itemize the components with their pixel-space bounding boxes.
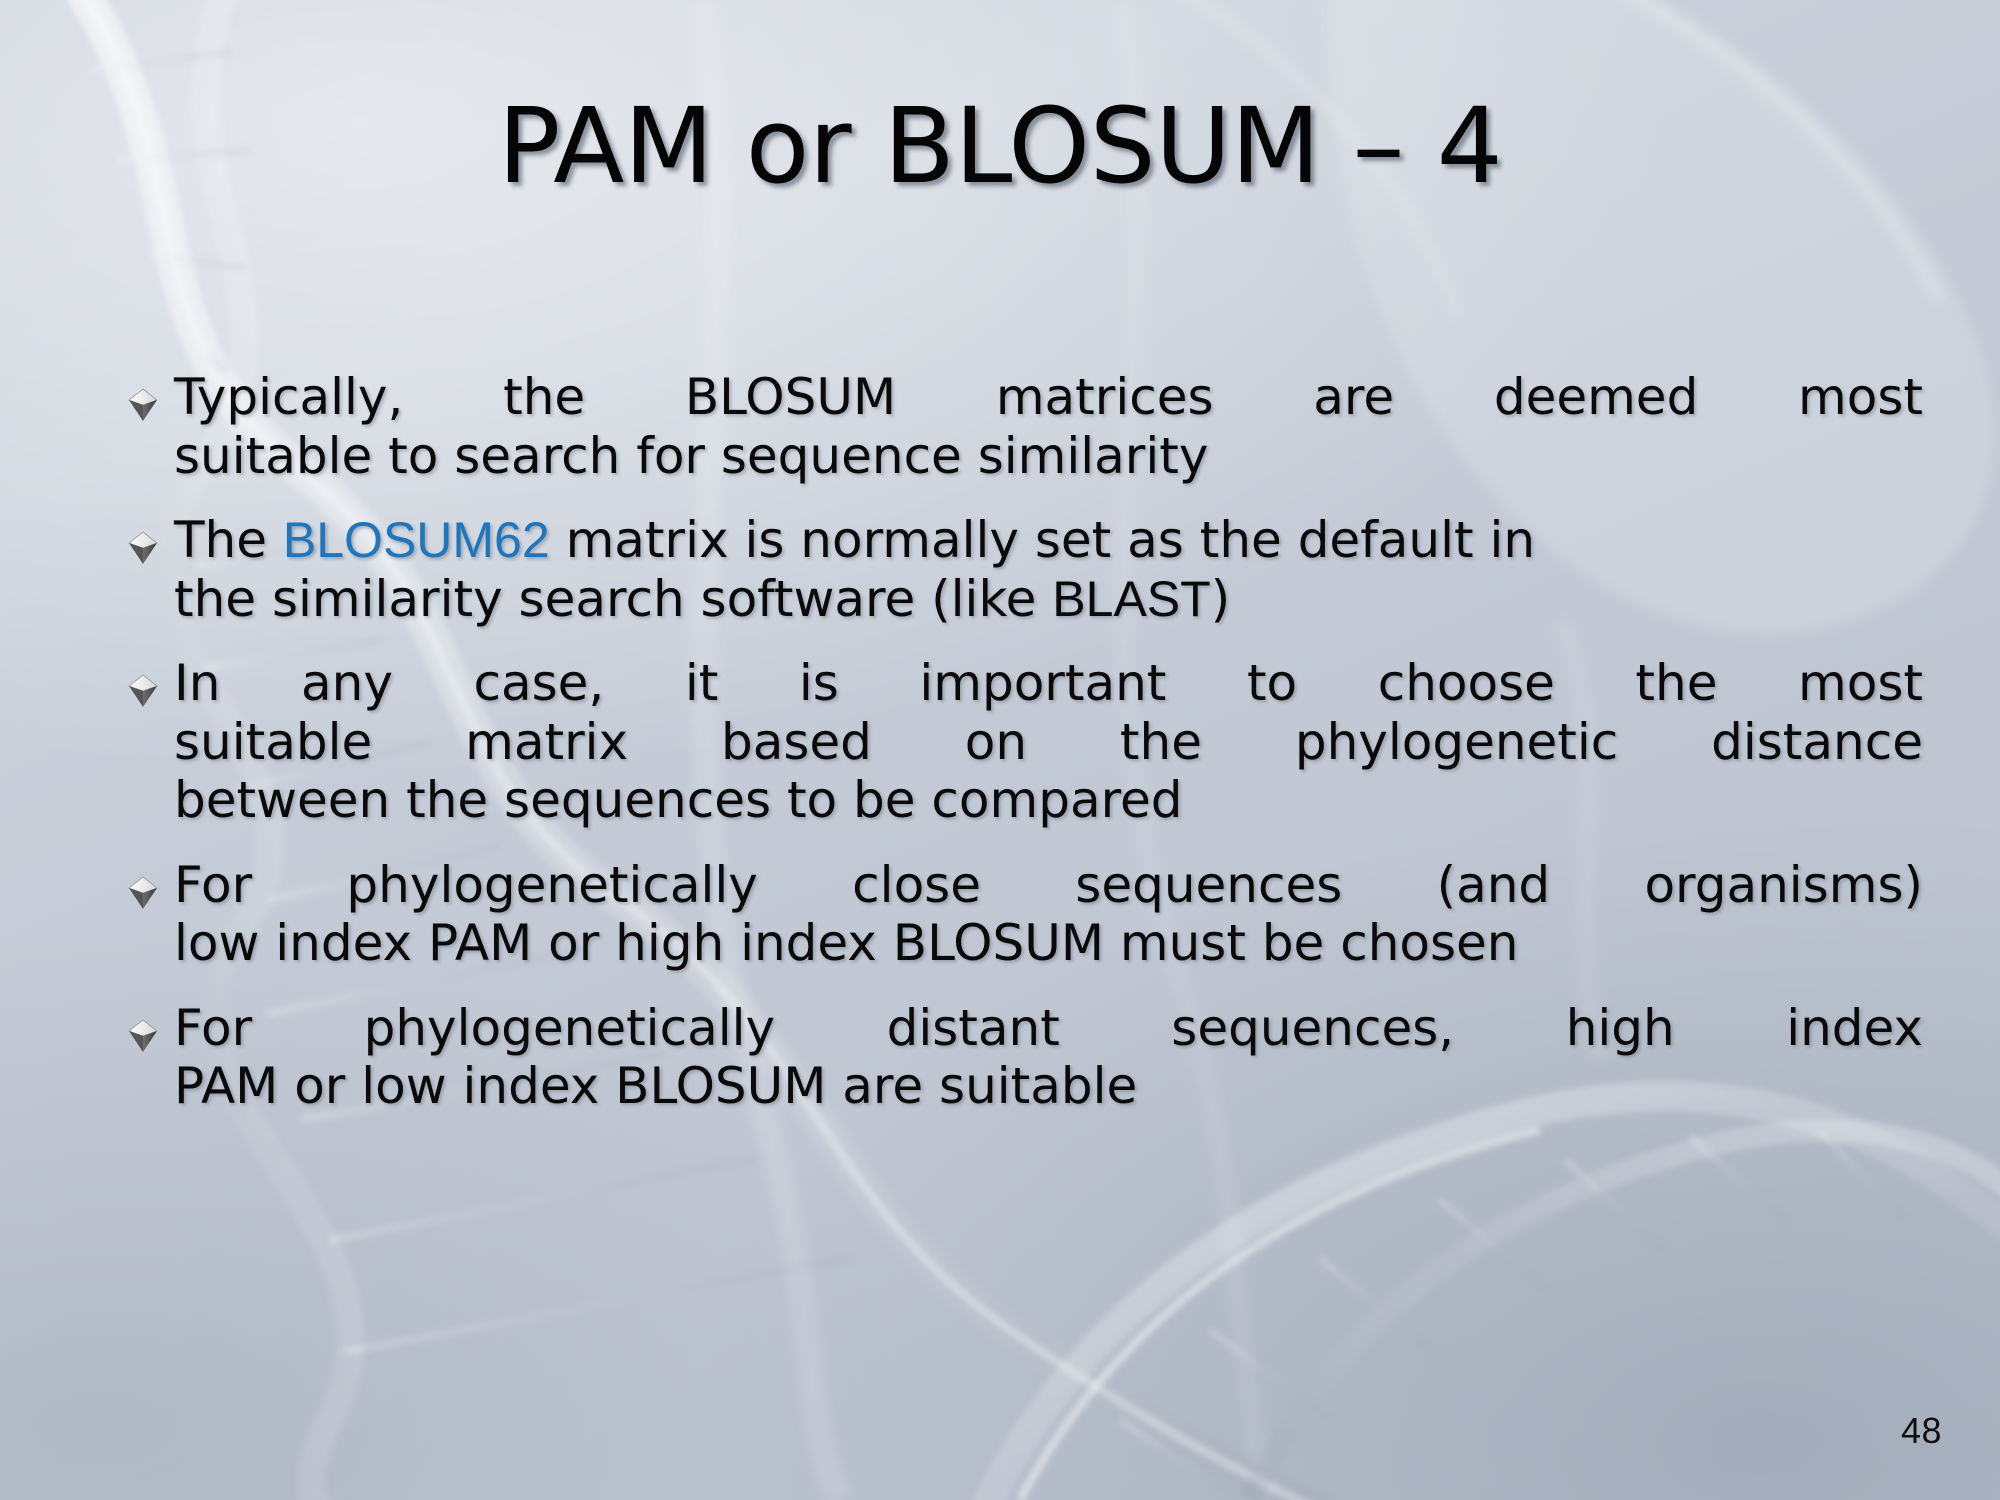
page-number: 48: [1901, 1410, 1942, 1452]
list-item-text: For phylogenetically distant sequences, …: [174, 999, 1923, 1116]
list-item-text: The BLOSUM62 matrix is normally set as t…: [174, 511, 1923, 628]
text-line: For phylogenetically distant sequences, …: [174, 999, 1923, 1058]
text-line: low index PAM or high index BLOSUM must …: [174, 914, 1923, 973]
list-item: Typically, the BLOSUM matrices are deeme…: [128, 368, 1923, 485]
diamond-arrow-bullet-icon: [128, 856, 174, 910]
presentation-slide: PAM or BLOSUM – 4: [0, 0, 2000, 1500]
page-title: PAM or BLOSUM – 4: [498, 92, 1503, 201]
list-item-text: In any case, it is important to choose t…: [174, 654, 1923, 830]
text-line: suitable matrix based on the phylogeneti…: [174, 713, 1923, 772]
text-line: For phylogenetically close sequences (an…: [174, 856, 1923, 915]
text-line: Typically, the BLOSUM matrices are deeme…: [174, 368, 1923, 427]
keyword-blast: BLAST: [1052, 571, 1210, 627]
list-item: The BLOSUM62 matrix is normally set as t…: [128, 511, 1923, 628]
text-line: PAM or low index BLOSUM are suitable: [174, 1057, 1923, 1116]
diamond-arrow-bullet-icon: [128, 999, 174, 1053]
text-fragment: matrix is normally set as the default in: [550, 511, 1535, 569]
list-item: For phylogenetically distant sequences, …: [128, 999, 1923, 1116]
text-line: between the sequences to be compared: [174, 771, 1923, 830]
text-fragment: the similarity search software (like: [174, 570, 1052, 628]
bullet-list: Typically, the BLOSUM matrices are deeme…: [128, 368, 1923, 1116]
text-fragment: The: [174, 511, 283, 569]
diamond-arrow-bullet-icon: [128, 511, 174, 565]
list-item: For phylogenetically close sequences (an…: [128, 856, 1923, 973]
text-line: the similarity search software (like BLA…: [174, 570, 1923, 629]
diamond-arrow-bullet-icon: [128, 368, 174, 422]
diamond-arrow-bullet-icon: [128, 654, 174, 708]
text-fragment: ): [1211, 570, 1231, 628]
title-block: PAM or BLOSUM – 4: [0, 92, 2000, 201]
list-item-text: Typically, the BLOSUM matrices are deeme…: [174, 368, 1923, 485]
list-item: In any case, it is important to choose t…: [128, 654, 1923, 830]
list-item-text: For phylogenetically close sequences (an…: [174, 856, 1923, 973]
text-line: The BLOSUM62 matrix is normally set as t…: [174, 511, 1923, 570]
text-line: suitable to search for sequence similari…: [174, 427, 1923, 486]
text-line: In any case, it is important to choose t…: [174, 654, 1923, 713]
highlighted-term-blosum62: BLOSUM62: [283, 512, 550, 568]
